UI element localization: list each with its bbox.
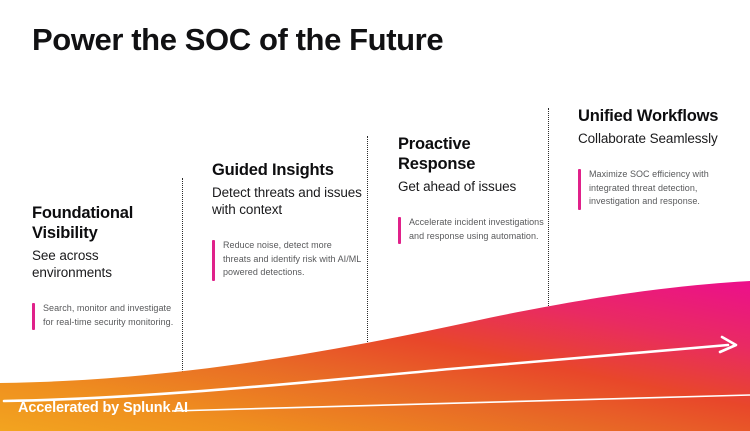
pillar-proactive-response: Proactive Response Get ahead of issues A…	[398, 134, 548, 243]
accent-bar-icon	[578, 169, 581, 210]
column-divider-1	[182, 178, 183, 380]
pillar-detail: Maximize SOC efficiency with integrated …	[589, 168, 728, 209]
column-divider-2	[367, 136, 368, 376]
pillar-detail-block: Accelerate incident investigations and r…	[398, 216, 548, 243]
pillar-heading: Unified Workflows	[578, 106, 728, 126]
growth-arrow-line	[4, 345, 728, 401]
pillar-subheading: Get ahead of issues	[398, 179, 548, 196]
pillar-heading: Proactive Response	[398, 134, 548, 174]
pillar-detail: Reduce noise, detect more threats and id…	[223, 239, 362, 280]
slide-canvas: Power the SOC of the Future Foundational…	[0, 0, 750, 431]
column-divider-3	[548, 108, 549, 346]
pillar-detail-block: Reduce noise, detect more threats and id…	[212, 239, 362, 280]
page-title: Power the SOC of the Future	[32, 22, 443, 58]
accent-bar-icon	[398, 217, 401, 244]
pillar-detail: Search, monitor and investigate for real…	[43, 302, 182, 329]
accent-bar-icon	[212, 240, 215, 281]
pillar-detail-block: Maximize SOC efficiency with integrated …	[578, 168, 728, 209]
pillar-heading: Foundational Visibility	[32, 203, 182, 243]
pillar-foundational-visibility: Foundational Visibility See across envir…	[32, 203, 182, 329]
pillar-unified-workflows: Unified Workflows Collaborate Seamlessly…	[578, 106, 728, 209]
growth-arrow-head-icon	[720, 337, 736, 352]
pillar-heading: Guided Insights	[212, 160, 362, 180]
pillar-detail: Accelerate incident investigations and r…	[409, 216, 548, 243]
banner-rule	[172, 395, 750, 411]
pillar-subheading: Collaborate Seamlessly	[578, 131, 728, 148]
pillar-guided-insights: Guided Insights Detect threats and issue…	[212, 160, 362, 280]
banner-label: Accelerated by Splunk AI	[18, 400, 188, 416]
pillar-subheading: See across environments	[32, 248, 182, 282]
pillar-detail-block: Search, monitor and investigate for real…	[32, 302, 182, 329]
accent-bar-icon	[32, 303, 35, 330]
pillar-subheading: Detect threats and issues with context	[212, 185, 362, 219]
